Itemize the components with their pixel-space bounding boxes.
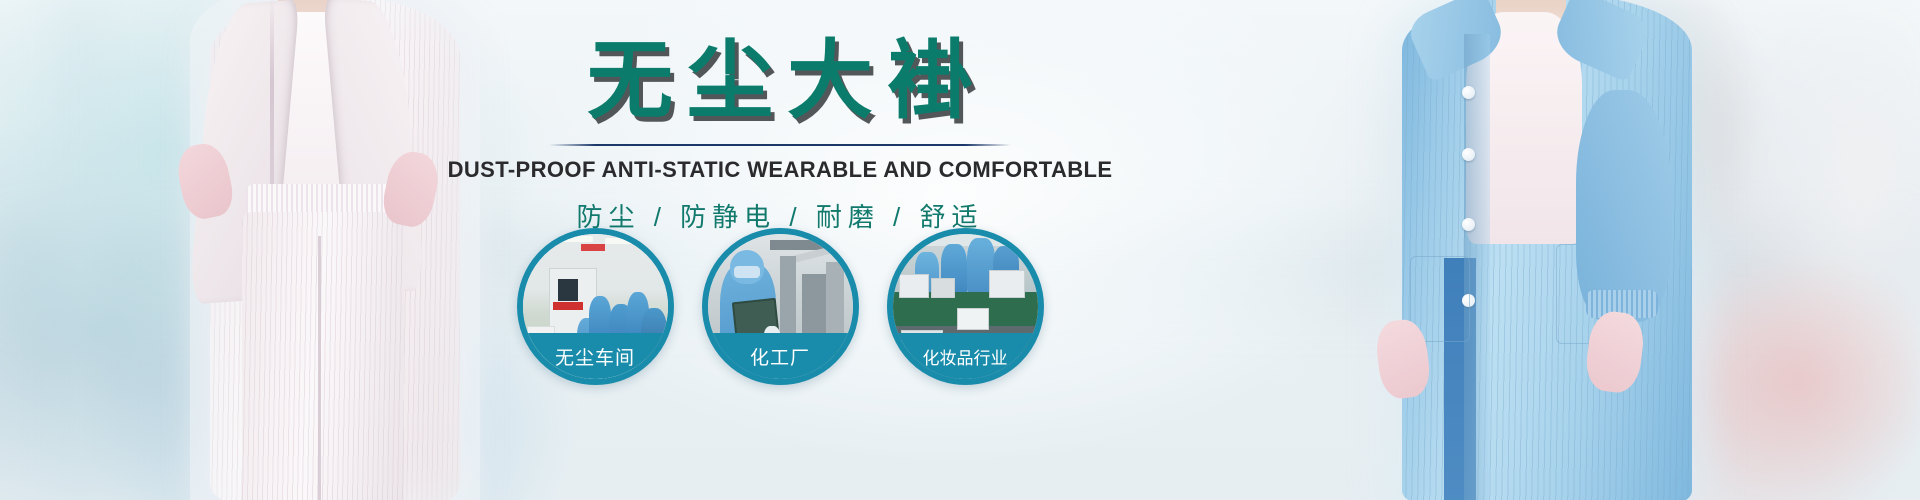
product-banner: 无尘大褂 DUST-PROOF ANTI-STATIC WEARABLE AND…: [0, 0, 1920, 500]
white-anti-static-lab-coat-model: [150, 0, 510, 500]
industry-badge-cleanroom[interactable]: 无尘车间: [517, 228, 674, 385]
subtitle-english: DUST-PROOF ANTI-STATIC WEARABLE AND COMF…: [448, 157, 1113, 183]
industry-badge-chemical-plant[interactable]: 化工厂: [702, 228, 859, 385]
industry-badge-cosmetics[interactable]: 化妆品行业: [887, 228, 1044, 385]
industry-badge-row: 无尘车间 化工厂: [480, 228, 1080, 385]
banner-content: 无尘大褂 DUST-PROOF ANTI-STATIC WEARABLE AND…: [480, 0, 1080, 500]
blue-anti-static-lab-coat-model: [1380, 0, 1800, 500]
industry-badge-label: 化妆品行业: [893, 333, 1038, 379]
title-divider: [549, 144, 1011, 146]
industry-badge-label: 无尘车间: [523, 333, 668, 379]
industry-badge-label: 化工厂: [708, 333, 853, 379]
page-title: 无尘大褂: [573, 38, 987, 126]
